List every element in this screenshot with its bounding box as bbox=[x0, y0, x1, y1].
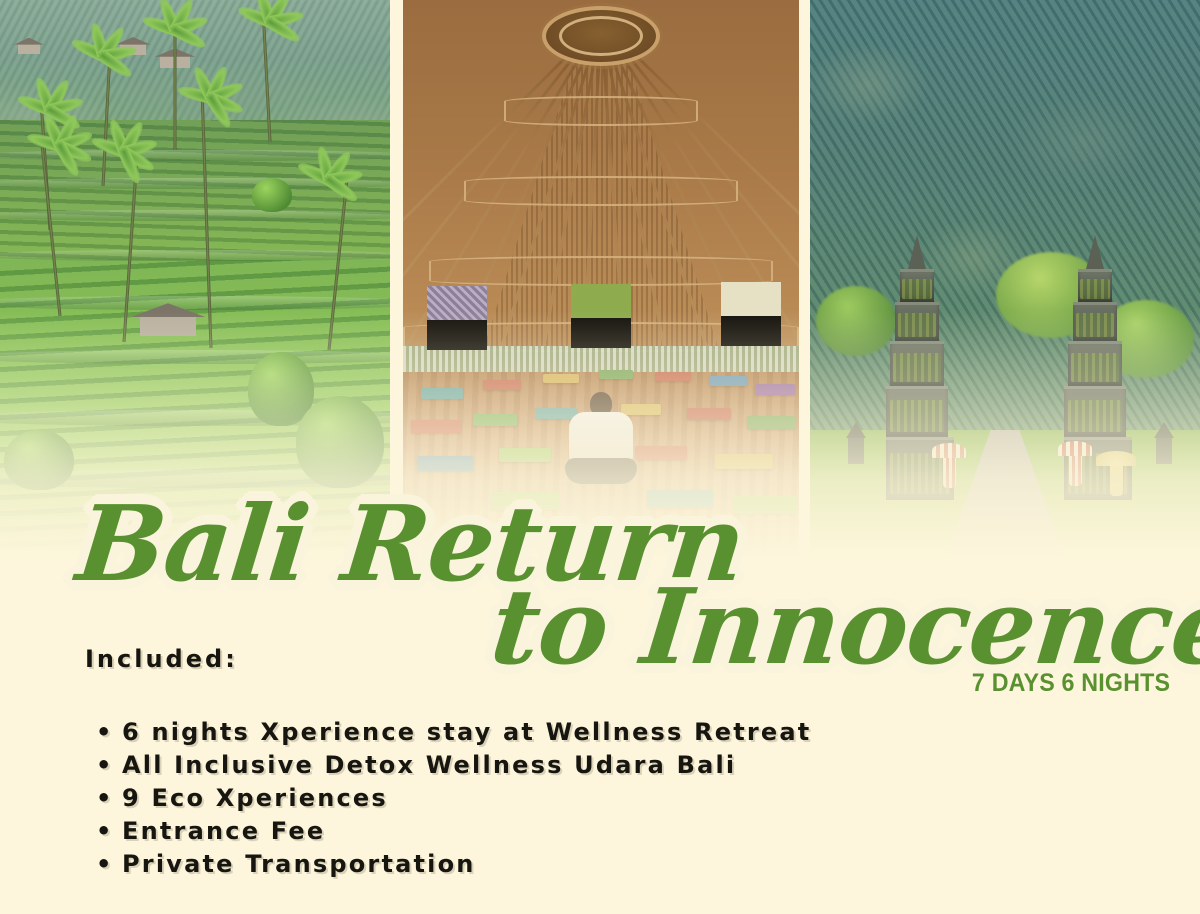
included-list: 6 nights Xperience stay at Wellness Retr… bbox=[92, 716, 1092, 881]
duration-badge: 7 DAYS 6 NIGHTS bbox=[972, 669, 1170, 698]
included-heading: Included: bbox=[85, 645, 238, 673]
photo-rice-terraces bbox=[0, 0, 390, 560]
list-item: 6 nights Xperience stay at Wellness Retr… bbox=[92, 716, 1092, 749]
list-item: 9 Eco Xperiences bbox=[92, 782, 1092, 815]
photo-bamboo-yoga-dome bbox=[403, 0, 799, 560]
photo-handara-gate bbox=[810, 0, 1200, 560]
dome-apex-ring bbox=[542, 6, 660, 66]
list-item: Entrance Fee bbox=[92, 815, 1092, 848]
poster-canvas: Bali Return to Innocence 7 DAYS 6 NIGHTS… bbox=[0, 0, 1200, 914]
list-item: Private Transportation bbox=[92, 848, 1092, 881]
photo-strip bbox=[0, 0, 1200, 620]
list-item: All Inclusive Detox Wellness Udara Bali bbox=[92, 749, 1092, 782]
